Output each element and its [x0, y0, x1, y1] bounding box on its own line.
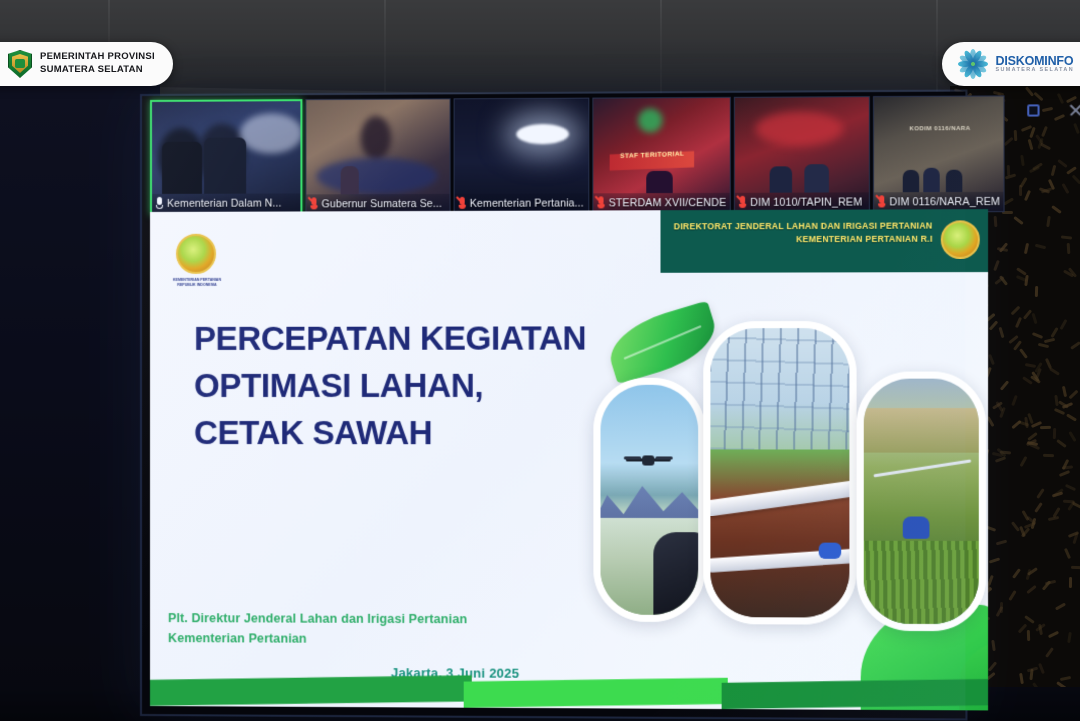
diskominfo-subtitle: SUMATERA SELATAN — [996, 68, 1075, 74]
slide-title: PERCEPATAN KEGIATAN OPTIMASI LAHAN, CETA… — [194, 315, 628, 457]
slide-title-line-2: OPTIMASI LAHAN, — [194, 363, 628, 410]
microphone-muted-icon — [309, 197, 318, 210]
participant-name: DIM 1010/TAPIN_REM ... — [750, 196, 866, 209]
shield-emblem-icon — [8, 50, 32, 78]
slide-artwork — [579, 240, 988, 711]
participant-name: DIM 0116/NARA_REM ... — [889, 195, 1000, 208]
diskominfo-badge: DISKOMINFO SUMATERA SELATAN — [942, 42, 1080, 86]
participant-tile-sterdam-xvii-cenderawasih[interactable]: STAF TERITORIAL STERDAM XVII/CENDE... — [592, 97, 730, 214]
participant-tile-kementerian-pertanian[interactable]: Kementerian Pertania... — [454, 98, 590, 214]
participant-name: Gubernur Sumatera Se... — [322, 197, 443, 209]
diskominfo-name: DISKOMINFO — [996, 55, 1075, 68]
participant-name: STERDAM XVII/CENDE... — [609, 196, 727, 209]
participant-namebar: Kementerian Dalam N... — [152, 193, 300, 213]
photo-field-irrigation — [857, 372, 986, 632]
slide-corner-logo: KEMENTERIAN PERTANIAN REPUBLIK INDONESIA — [176, 234, 216, 274]
slide-corner-logo-caption: KEMENTERIAN PERTANIAN REPUBLIK INDONESIA — [168, 278, 226, 289]
microphone-icon — [155, 197, 164, 210]
microphone-muted-icon — [458, 197, 467, 210]
restore-window-icon[interactable] — [1022, 99, 1045, 121]
province-badge-text: PEMERINTAH PROVINSI SUMATERA SELATAN — [40, 51, 155, 77]
microphone-muted-icon — [877, 195, 886, 208]
mandala-logo-icon — [958, 49, 988, 79]
presenter-organization: Kementerian Pertanian — [168, 628, 591, 650]
slide-title-line-3: CETAK SAWAH — [194, 410, 628, 457]
slide-title-line-1: PERCEPATAN KEGIATAN — [194, 315, 628, 363]
diskominfo-wordmark: DISKOMINFO SUMATERA SELATAN — [996, 55, 1075, 74]
participant-name: Kementerian Pertania... — [470, 197, 584, 209]
participant-name: Kementerian Dalam N... — [167, 197, 282, 209]
left-wall — [0, 84, 160, 721]
tile-banner-text: KODIM 0116/NARA — [908, 126, 973, 132]
participant-tile-gubernur-sumatera-selatan[interactable]: Gubernur Sumatera Se... — [305, 98, 450, 214]
close-icon[interactable] — [1064, 99, 1080, 121]
slide-bottom-band — [150, 666, 988, 710]
presenter-title: Plt. Direktur Jenderal Lahan dan Irigasi… — [168, 608, 591, 630]
slide-presenter-block: Plt. Direktur Jenderal Lahan dan Irigasi… — [168, 608, 591, 650]
province-badge-line1: PEMERINTAH PROVINSI — [40, 51, 155, 64]
participant-tile-dim-0116-nara[interactable]: KODIM 0116/NARA DIM 0116/NARA_REM ... — [873, 95, 1005, 212]
microphone-muted-icon — [738, 196, 747, 209]
province-government-badge: PEMERINTAH PROVINSI SUMATERA SELATAN — [0, 42, 173, 86]
participant-filmstrip: Kementerian Dalam N... Gubernur Sumatera… — [150, 95, 988, 214]
microphone-muted-icon — [596, 196, 605, 209]
kementerian-pertanian-seal-icon — [176, 234, 216, 274]
presentation-slide: DIREKTORAT JENDERAL LAHAN DAN IRIGASI PE… — [150, 209, 988, 710]
slide-header-line1: DIREKTORAT JENDERAL LAHAN DAN IRIGASI PE… — [674, 219, 933, 233]
photo-greenhouse-hydroponics — [703, 321, 856, 625]
participant-tile-kementerian-dalam-negeri[interactable]: Kementerian Dalam N... — [150, 99, 302, 215]
drone-icon — [626, 454, 671, 470]
photo-drone-over-paddy — [593, 378, 705, 622]
participant-tile-dim-1010-tapin[interactable]: DIM 1010/TAPIN_REM ... — [734, 96, 870, 213]
province-badge-line2: SUMATERA SELATAN — [40, 64, 155, 77]
presentation-display: Kementerian Dalam N... Gubernur Sumatera… — [142, 92, 965, 719]
